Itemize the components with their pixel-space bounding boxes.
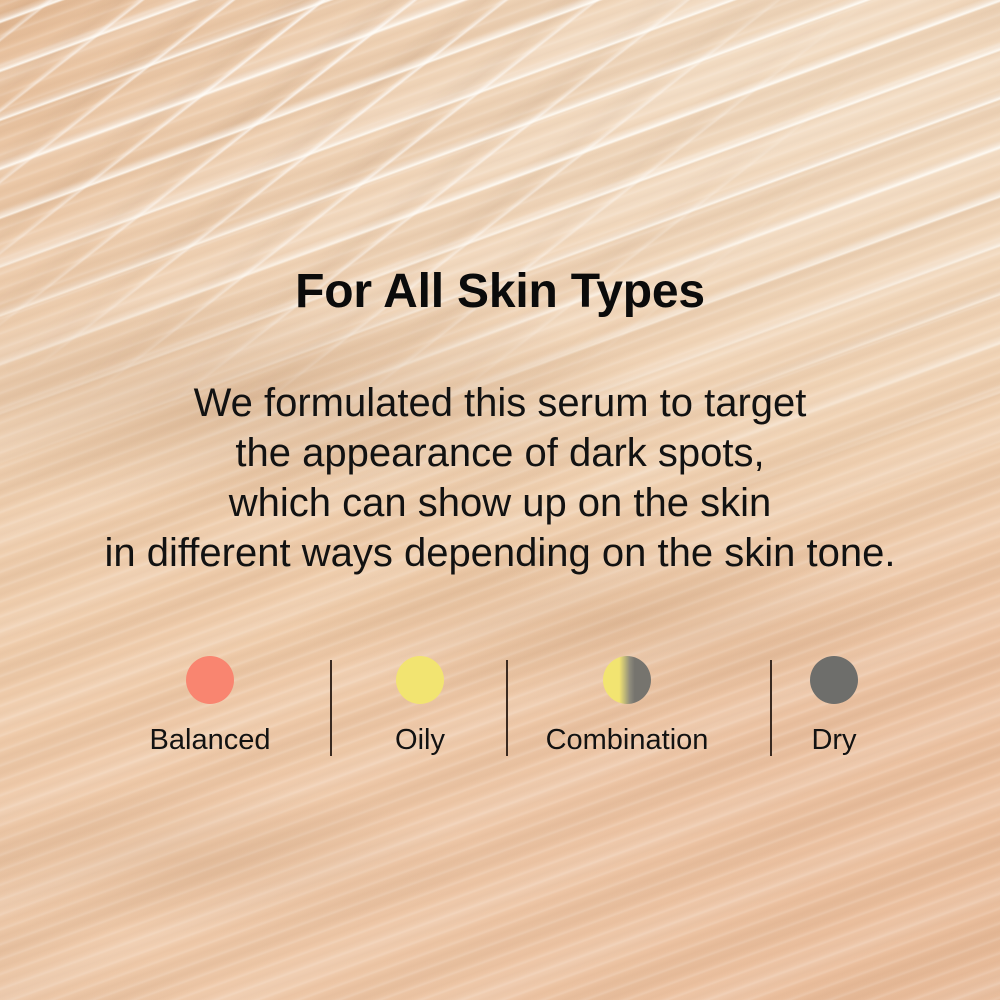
marketing-graphic: For All Skin Types We formulated this se… [0, 0, 1000, 1000]
legend-item-combination: Combination [516, 648, 738, 755]
legend-label-combination: Combination [516, 726, 738, 755]
legend-divider-2 [506, 660, 508, 756]
body-line-4: in different ways depending on the skin … [0, 528, 1000, 578]
legend-item-dry: Dry [786, 648, 882, 755]
legend-label-balanced: Balanced [110, 726, 310, 755]
skin-type-legend: Balanced Oily Combination Dry [0, 648, 1000, 768]
legend-divider-3 [770, 660, 772, 756]
body-line-1: We formulated this serum to target [0, 378, 1000, 428]
legend-item-balanced: Balanced [110, 648, 310, 755]
body-copy: We formulated this serum to target the a… [0, 378, 1000, 578]
body-line-2: the appearance of dark spots, [0, 428, 1000, 478]
legend-label-dry: Dry [786, 726, 882, 755]
dot-balanced-icon [186, 656, 234, 704]
legend-label-oily: Oily [348, 726, 492, 755]
dot-oily-icon [396, 656, 444, 704]
dot-dry-icon [810, 656, 858, 704]
legend-divider-1 [330, 660, 332, 756]
page-title: For All Skin Types [0, 268, 1000, 316]
body-line-3: which can show up on the skin [0, 478, 1000, 528]
dot-combination-icon [603, 656, 651, 704]
legend-item-oily: Oily [348, 648, 492, 755]
